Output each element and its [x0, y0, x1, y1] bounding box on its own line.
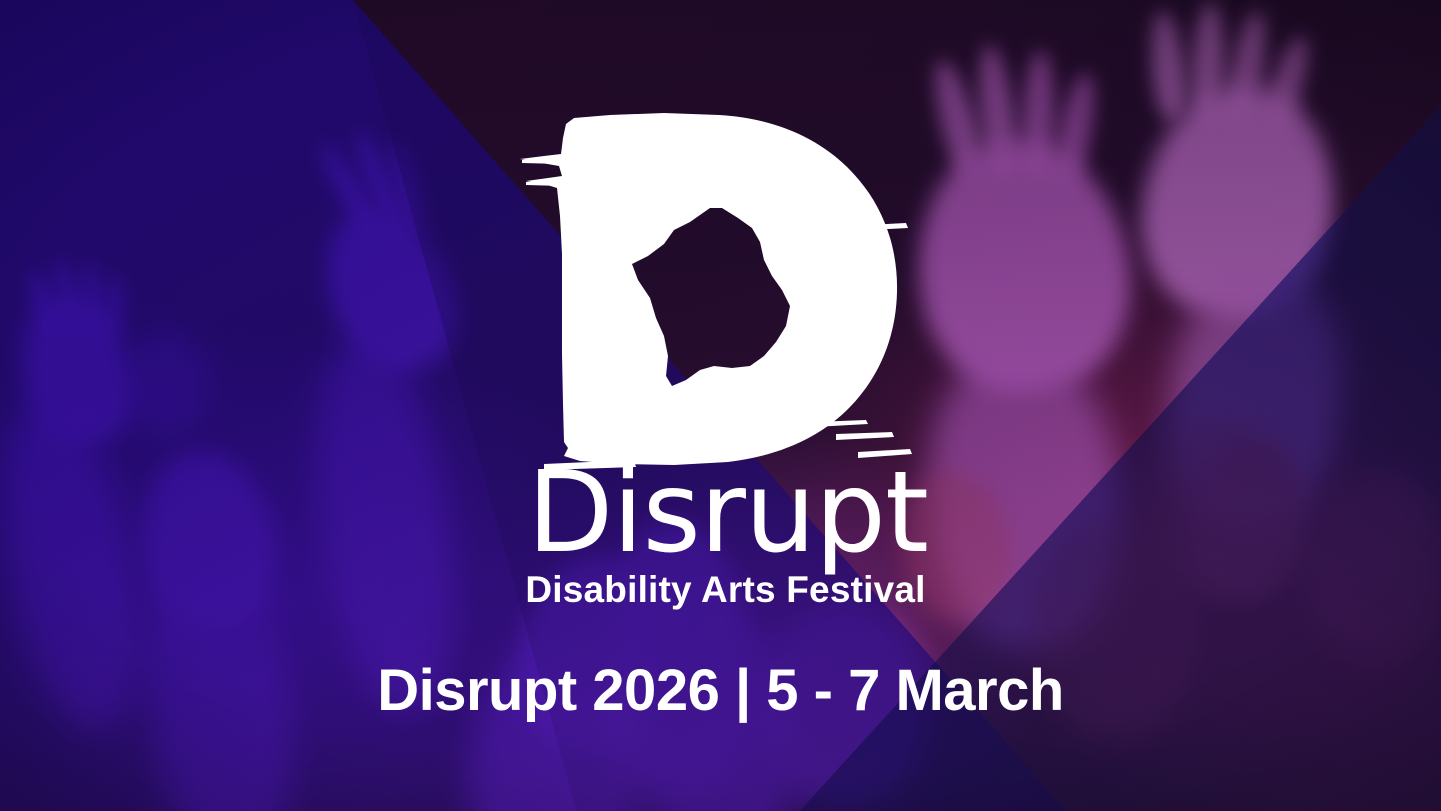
- event-date-headline: Disrupt 2026 | 5 - 7 March: [0, 662, 1441, 720]
- logo-tagline: Disability Arts Festival: [0, 571, 1441, 608]
- brush-stroke-d-icon: [514, 104, 916, 476]
- logo-wordmark: Disrupt: [0, 457, 1441, 569]
- poster-content: Disrupt Disability Arts Festival Disrupt…: [0, 0, 1441, 811]
- festival-poster: Disrupt Disability Arts Festival Disrupt…: [0, 0, 1441, 811]
